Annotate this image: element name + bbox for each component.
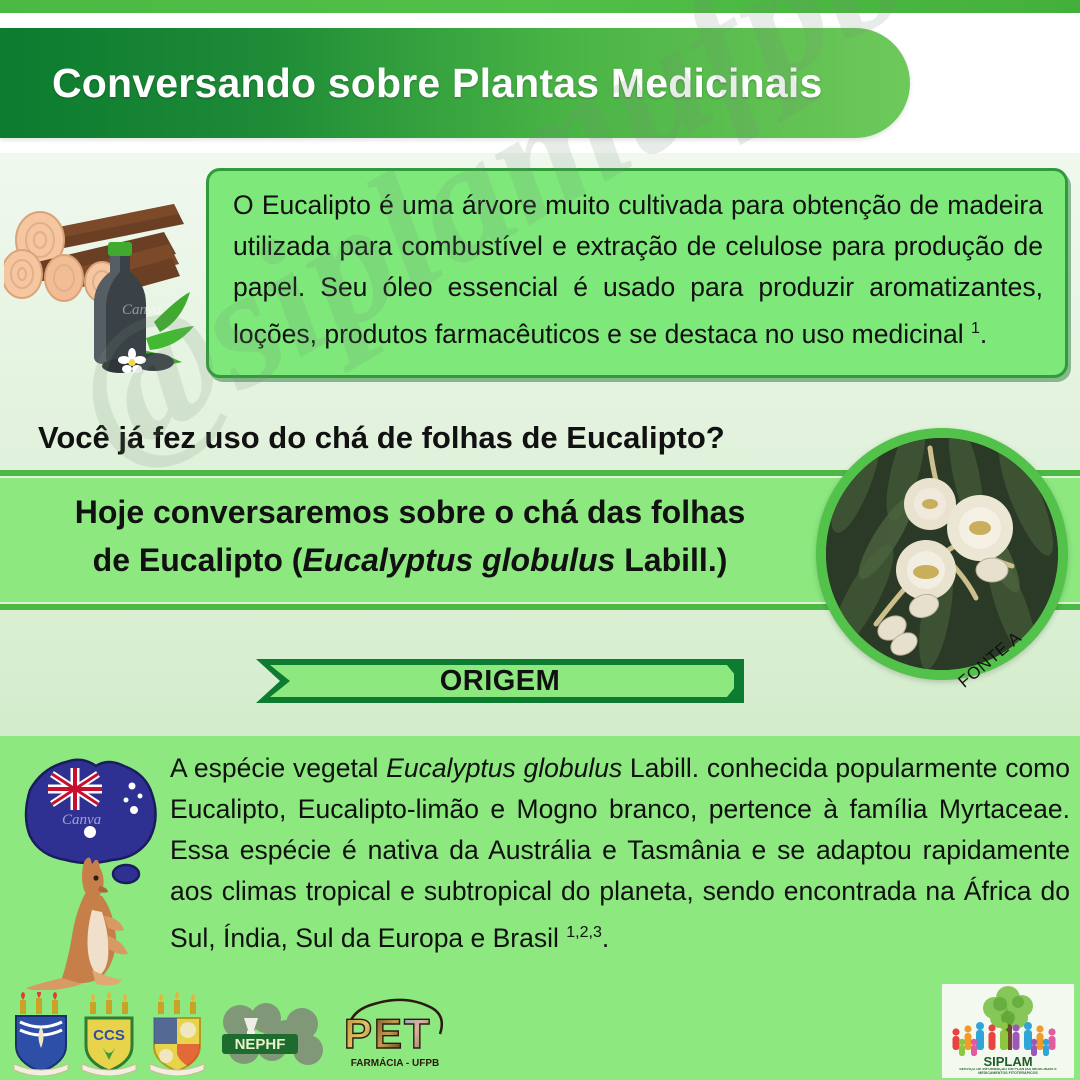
species-name-italic: Eucalyptus globulus bbox=[302, 542, 615, 578]
australia-kangaroo-illustration: Canva bbox=[4, 740, 174, 990]
origin-reference: 1,2,3 bbox=[566, 924, 602, 941]
eucalyptus-photo bbox=[826, 438, 1058, 670]
ufpb-quartered-shield-logo bbox=[146, 992, 208, 1076]
siplam-subtitle: SERVIÇO DE INFORMAÇÃO EM PLANTAS MEDICIN… bbox=[958, 1068, 1058, 1076]
highlight-line-2: de Eucalipto (Eucalyptus globulus Labill… bbox=[0, 542, 820, 579]
section-ribbon-origem: ORIGEM bbox=[256, 655, 744, 707]
intro-reference: 1 bbox=[971, 320, 980, 337]
top-accent-strip bbox=[0, 0, 1080, 13]
pet-letter-t: T bbox=[404, 1010, 430, 1057]
canva-watermark: Canva bbox=[122, 302, 161, 318]
infographic-page: Conversando sobre Plantas Medicinais bbox=[0, 0, 1080, 1080]
pet-sublabel: FARMÁCIA - UFPB bbox=[351, 1056, 440, 1069]
pet-letter-p: P bbox=[344, 1010, 372, 1057]
ufpb-shield-logo bbox=[10, 992, 72, 1076]
highlight-line-1: Hoje conversaremos sobre o chá das folha… bbox=[0, 494, 820, 531]
eucalyptus-photo-frame bbox=[816, 428, 1068, 680]
title-banner: Conversando sobre Plantas Medicinais bbox=[0, 28, 910, 138]
eucalyptus-flowers-image bbox=[826, 438, 1058, 670]
intro-paragraph: O Eucalipto é uma árvore muito cultivada… bbox=[233, 185, 1043, 355]
ribbon-label: ORIGEM bbox=[256, 655, 744, 707]
intro-text-box: O Eucalipto é uma árvore muito cultivada… bbox=[206, 168, 1068, 378]
highlight-prefix: de Eucalipto ( bbox=[93, 542, 303, 578]
stacked-logs-illustration: Canva bbox=[4, 172, 204, 377]
page-title: Conversando sobre Plantas Medicinais bbox=[0, 60, 823, 107]
pet-letter-e: E bbox=[374, 1010, 402, 1057]
origin-prefix: A espécie vegetal bbox=[170, 753, 386, 783]
highlight-suffix: Labill.) bbox=[615, 542, 727, 578]
siplam-logo: SIPLAM SERVIÇO DE INFORMAÇÃO EM PLANTAS … bbox=[942, 984, 1074, 1078]
question-text: Você já fez uso do chá de folhas de Euca… bbox=[0, 420, 725, 456]
siplam-logo-art: SIPLAM SERVIÇO DE INFORMAÇÃO EM PLANTAS … bbox=[942, 984, 1074, 1078]
pet-farmacia-logo: P E T FARMÁCIA - UFPB bbox=[340, 992, 450, 1076]
footer-logos: CCS bbox=[10, 992, 450, 1076]
origin-period: . bbox=[602, 923, 609, 953]
ccs-shield-logo: CCS bbox=[78, 992, 140, 1076]
canva-watermark-2: Canva bbox=[62, 812, 101, 828]
svg-text:CCS: CCS bbox=[93, 1027, 125, 1044]
intro-period: . bbox=[980, 319, 987, 349]
origin-paragraph: A espécie vegetal Eucalyptus globulus La… bbox=[170, 748, 1070, 959]
nephf-label: NEPHF bbox=[235, 1036, 286, 1053]
nephf-logo: NEPHF bbox=[214, 996, 334, 1076]
intro-text: O Eucalipto é uma árvore muito cultivada… bbox=[233, 190, 1043, 349]
origin-species-italic: Eucalyptus globulus bbox=[386, 753, 622, 783]
siplam-title: SIPLAM bbox=[983, 1054, 1032, 1069]
